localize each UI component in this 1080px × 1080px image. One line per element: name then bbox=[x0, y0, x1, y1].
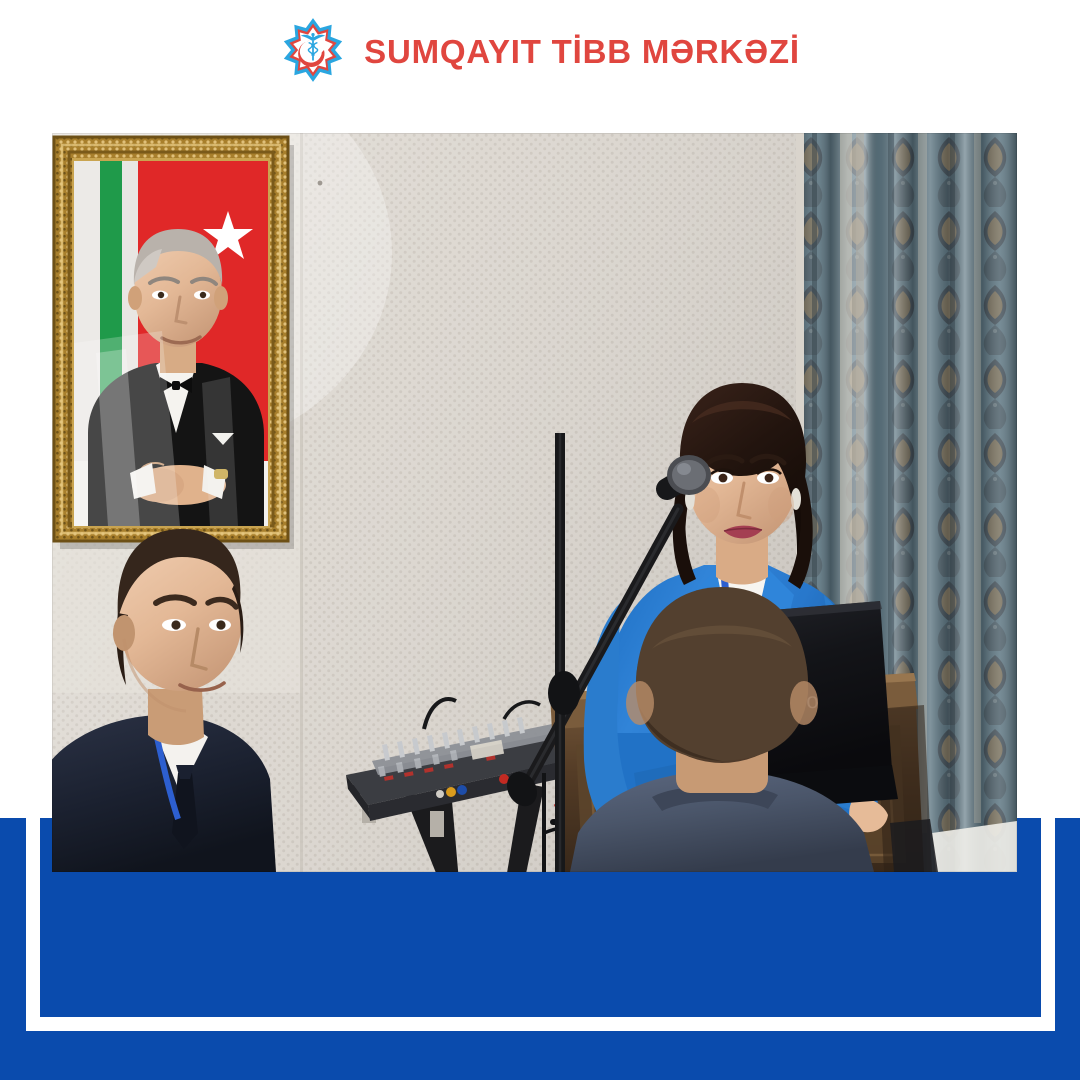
brand-header: SUMQAYIT TİBB MƏRKƏZİ bbox=[0, 0, 1080, 100]
poster-canvas: SUMQAYIT TİBB MƏRKƏZİ bbox=[0, 0, 1080, 1080]
photo-scene: Lenovo bbox=[52, 133, 1017, 872]
sumqayit-medical-center-logo-icon bbox=[280, 17, 346, 83]
brand-title: SUMQAYIT TİBB MƏRKƏZİ bbox=[364, 33, 800, 68]
framed-portrait-heydar-aliyev bbox=[54, 137, 294, 549]
event-photograph: Lenovo bbox=[52, 133, 1017, 872]
